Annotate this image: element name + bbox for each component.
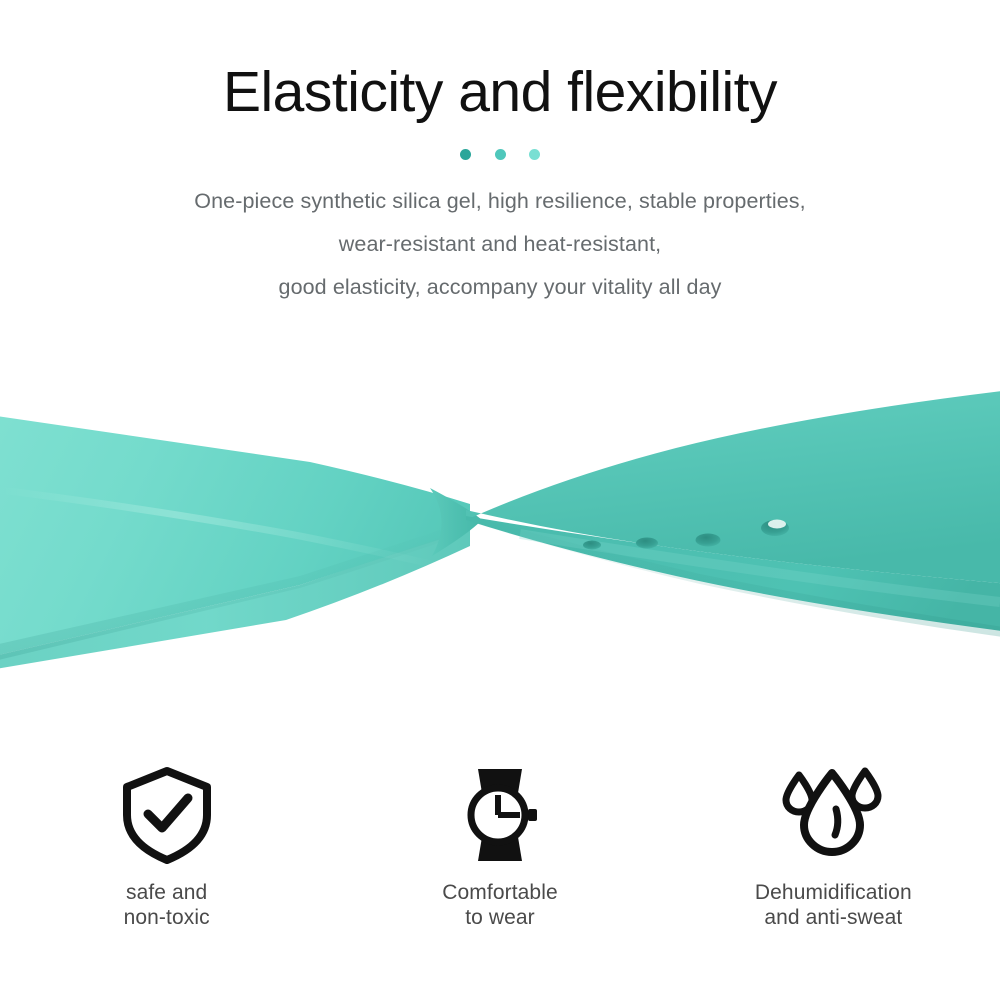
subtitle-line-1: One-piece synthetic silica gel, high res… [0, 180, 1000, 223]
feature-caption: safe and non-toxic [124, 880, 210, 930]
feature-caption-line-1: Comfortable [442, 880, 557, 905]
feature-dehumidification: Dehumidification and anti-sweat [667, 765, 1000, 930]
feature-caption-line-2: non-toxic [124, 905, 210, 930]
subtitle-line-3: good elasticity, accompany your vitality… [0, 266, 1000, 309]
product-image [0, 370, 1000, 690]
feature-icon-wrapper [778, 765, 888, 865]
band-right-upper [466, 390, 1000, 584]
page-title: Elasticity and flexibility [0, 0, 1000, 122]
infographic-page: Elasticity and flexibility One-piece syn… [0, 0, 1000, 1000]
feature-caption: Comfortable to wear [442, 880, 557, 930]
subtitle-line-2: wear-resistant and heat-resistant, [0, 223, 1000, 266]
feature-caption-line-2: to wear [442, 905, 557, 930]
divider-dot-2 [495, 149, 506, 160]
feature-caption-line-1: Dehumidification [755, 880, 912, 905]
feature-comfortable-to-wear: Comfortable to wear [333, 765, 666, 930]
shield-check-icon [119, 765, 215, 865]
water-droplets-icon [778, 765, 888, 865]
feature-icon-wrapper [452, 765, 548, 865]
header-section: Elasticity and flexibility One-piece syn… [0, 0, 1000, 309]
divider-dot-3 [529, 149, 540, 160]
subtitle-block: One-piece synthetic silica gel, high res… [0, 160, 1000, 309]
feature-caption-line-2: and anti-sweat [755, 905, 912, 930]
divider-dots [460, 148, 540, 160]
band-hole-3 [696, 534, 721, 547]
band-hole-2 [636, 538, 658, 549]
feature-caption: Dehumidification and anti-sweat [755, 880, 912, 930]
band-hole-4-highlight [768, 520, 786, 529]
feature-icon-wrapper [119, 765, 215, 865]
feature-caption-line-1: safe and [124, 880, 210, 905]
twisted-band-illustration [0, 370, 1000, 690]
band-hole-1 [583, 541, 601, 550]
feature-safe-non-toxic: safe and non-toxic [0, 765, 333, 930]
divider-dot-1 [460, 149, 471, 160]
feature-list: safe and non-toxic [0, 765, 1000, 945]
wristwatch-icon [452, 765, 548, 865]
